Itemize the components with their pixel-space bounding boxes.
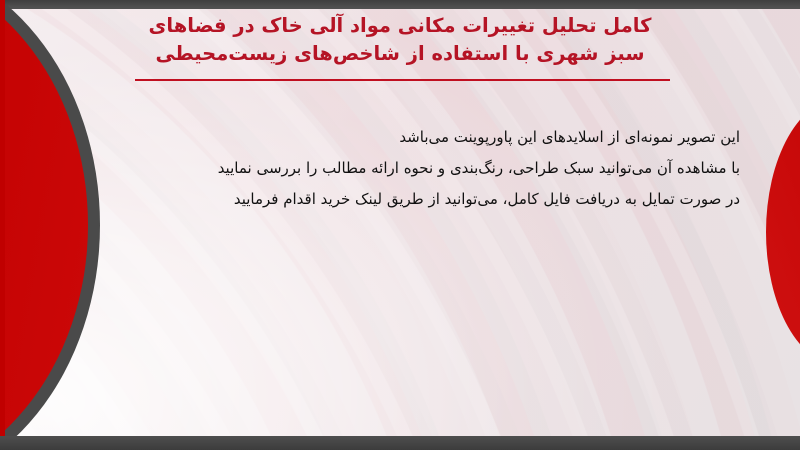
left-red-edge-strip	[0, 0, 5, 450]
slide-content-plate-clip	[0, 9, 800, 437]
slide-title: کامل تحلیل تغییرات مکانی مواد آلی خاک در…	[120, 12, 680, 68]
slide-body-text: این تصویر نمونه‌ای از اسلایدهای این پاور…	[50, 122, 740, 215]
presentation-slide: کامل تحلیل تغییرات مکانی مواد آلی خاک در…	[0, 0, 800, 450]
slide-title-line-2: سبز شهری با استفاده از شاخص‌های زیست‌محی…	[120, 40, 680, 68]
slide-title-line-1: کامل تحلیل تغییرات مکانی مواد آلی خاک در…	[120, 12, 680, 40]
slide-body-line-1: این تصویر نمونه‌ای از اسلایدهای این پاور…	[50, 122, 740, 153]
slide-content-plate	[0, 9, 800, 437]
background-sheen	[0, 9, 800, 437]
slide-body-line-2: با مشاهده آن می‌توانید سبک طراحی، رنگ‌بن…	[50, 153, 740, 184]
bottom-dark-band	[0, 436, 800, 450]
title-underline-rule	[135, 79, 670, 81]
slide-body-line-3: در صورت تمایل به دریافت فایل کامل، می‌تو…	[50, 184, 740, 215]
